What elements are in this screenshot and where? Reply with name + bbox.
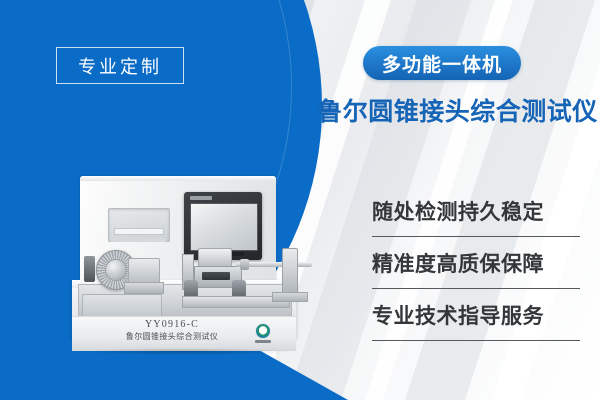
- machine-plate-slot: [114, 228, 164, 235]
- custom-made-badge: 专业定制: [56, 47, 184, 84]
- clamp-mount-foot: [124, 282, 164, 294]
- feature-divider: [372, 236, 580, 237]
- end-bracket-foot: [272, 292, 308, 302]
- machine-nameplate: YY0916-C 鲁尔圆锥接头综合测试仪: [72, 318, 272, 343]
- feature-item: 精准度高质保保障: [372, 245, 580, 297]
- end-bracket: [282, 248, 298, 298]
- touchscreen-display: [190, 203, 258, 251]
- machine-model-name: 鲁尔圆锥接头综合测试仪: [72, 331, 272, 343]
- machine-panel-top-edge: [80, 176, 276, 181]
- custom-made-label: 专业定制: [78, 53, 162, 79]
- feature-label: 随处检测持久稳定: [372, 193, 580, 231]
- fixture-grip: [202, 272, 230, 280]
- feature-item: 随处检测持久稳定: [372, 193, 580, 245]
- feature-divider: [372, 340, 580, 341]
- machine-deck-left-plate: [82, 294, 162, 318]
- machine-recessed-plate: [108, 208, 170, 242]
- product-title: 鲁尔圆锥接头综合测试仪: [315, 92, 600, 128]
- machine-plate-lip: [110, 238, 166, 242]
- product-photo: YY0916-C 鲁尔圆锥接头综合测试仪: [72, 176, 312, 366]
- feature-item: 专业技术指导服务: [372, 297, 580, 349]
- clamp-wheel-arm: [84, 256, 95, 282]
- manufacturer-logo: [252, 322, 274, 344]
- manufacturer-logo-wordmark: [255, 340, 271, 343]
- multifunction-pill-label: 多功能一体机: [382, 50, 502, 77]
- feature-divider: [372, 288, 580, 289]
- feature-label: 专业技术指导服务: [372, 297, 580, 335]
- clamp-wheel-hub: [105, 259, 127, 281]
- promo-banner: 专业定制 多功能一体机 鲁尔圆锥接头综合测试仪 随处检测持久稳定 精准度高质保保…: [0, 0, 600, 400]
- test-rod-knob: [240, 259, 249, 270]
- machine-ground-shadow: [78, 348, 292, 355]
- feature-label: 精准度高质保保障: [372, 245, 580, 283]
- machine-model-number: YY0916-C: [72, 318, 272, 331]
- manufacturer-logo-mark: [255, 323, 271, 339]
- multifunction-pill-badge: 多功能一体机: [363, 46, 521, 80]
- touchscreen-brand-mark: [190, 196, 212, 200]
- feature-list: 随处检测持久稳定 精准度高质保保障 专业技术指导服务: [372, 193, 580, 349]
